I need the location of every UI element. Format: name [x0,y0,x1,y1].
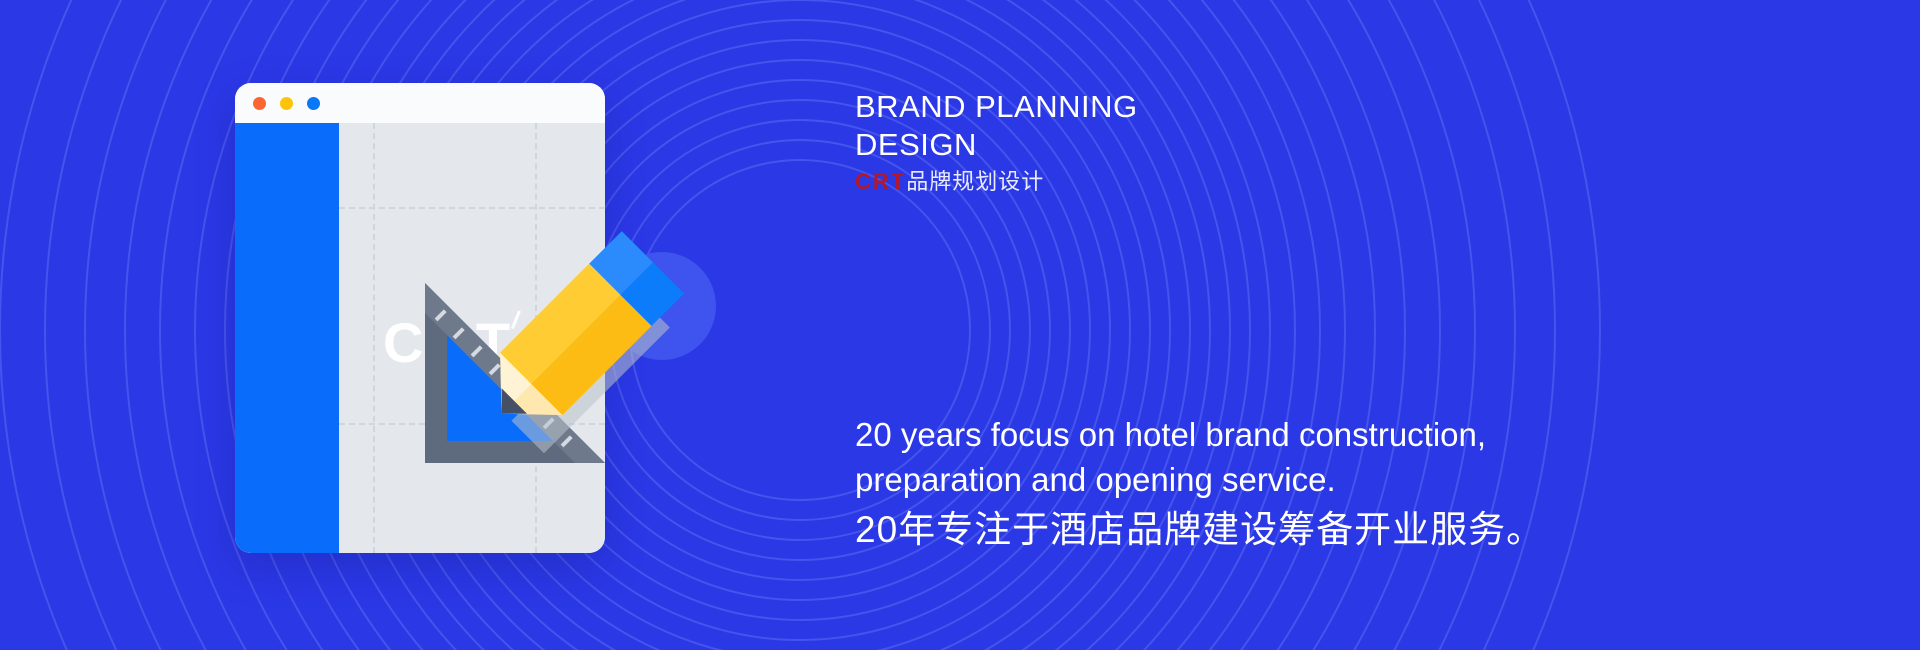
window-titlebar [235,83,605,123]
headline-line-2: DESIGN [855,127,977,162]
close-dot-icon [253,97,266,110]
guide-line-horizontal-1 [339,207,605,209]
guide-line-vertical-1 [373,123,375,553]
subtitle-chinese: 品牌规划设计 [906,169,1044,194]
tagline-chinese: 20年专注于酒店品牌建设筹备开业服务。 [855,505,1544,555]
brand-name: CRT [855,169,906,194]
page-title: BRAND PLANNING DESIGN [855,88,1475,164]
brand-banner: CRT [0,0,1920,650]
hero-illustration: CRT [0,0,900,650]
maximize-dot-icon [307,97,320,110]
window-blue-panel [235,123,339,553]
minimize-dot-icon [280,97,293,110]
tagline-english-line-2: preparation and opening service. [855,461,1336,498]
tagline-english: 20 years focus on hotel brand constructi… [855,412,1535,502]
pencil-icon [470,228,700,458]
tagline-english-line-1: 20 years focus on hotel brand constructi… [855,416,1486,453]
subtitle: CRT品牌规划设计 [855,168,1044,196]
headline-line-1: BRAND PLANNING [855,89,1138,124]
banner-text-block: BRAND PLANNING DESIGN CRT品牌规划设计 20 years… [855,0,1855,650]
